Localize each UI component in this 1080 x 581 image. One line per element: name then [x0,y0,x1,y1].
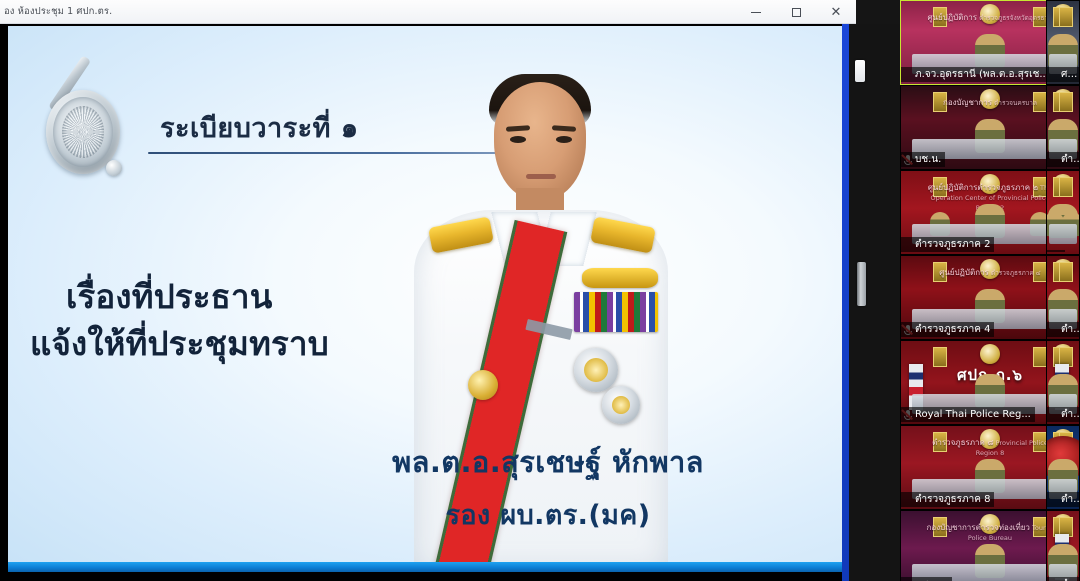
scene-banner-sub: ตำรวจภูธรจังหวัดอุดรธานี [977,14,1052,22]
participant-name-label: ภ.จว.อุดรธานี (พล.ต.อ.สุรเช... [901,67,1053,82]
participant-thumbnail-overflow-1[interactable]: ตำรวจ... [1046,85,1080,170]
scrollbar-marker [855,60,865,82]
participant-name-label: ตำรวจภูธรภาค 2 [901,237,994,252]
thumbnail-scroll-gutter[interactable] [849,24,900,581]
participant-name-label: ตำ... [1047,407,1079,422]
thumbnail-video [1047,511,1079,581]
officer-order-star-1-icon [574,348,618,392]
scrollbar-track[interactable] [849,24,900,581]
participant-thumbnail-overflow-0[interactable]: ศปก.ต... [1046,0,1080,85]
scene-banner: ศูนย์ปฏิบัติการ ตำรวจภูธรจังหวัดอุดรธานี [926,13,1054,23]
participant-thumbnail-overflow-3[interactable]: ตำรวจ... [1046,255,1080,340]
maximize-button[interactable] [776,0,816,24]
participant-name-label: ตำรวจ... [1047,492,1079,507]
participant-name-label [1047,250,1065,252]
thumbnail-video [1047,171,1079,254]
scene-banner: กองบัญชาการตำรวจท่องเที่ยว Tourist Polic… [926,523,1054,543]
officer-head [494,82,586,200]
participant-name-label: Royal Thai Police Reg... [901,407,1035,422]
participant-name-label: ตำรวจ... [1047,322,1079,337]
participant-name-label: บช.ทท. [901,577,952,581]
agenda-title: ระเบียบวาระที่ ๑ [160,106,359,149]
app-root: อง ห้องประชุม 1 ศปก.ตร. ✕ ระเบียบวาระที่… [0,0,1080,581]
officer-eye-right [556,136,572,143]
scene-banner-sub: ตำรวจภูธรภาค ๔ [989,269,1041,277]
shared-screen-stage[interactable]: ระเบียบวาระที่ ๑ เรื่องที่ประธาน แจ้งให้… [0,24,856,581]
participant-name-label: ตำรวจ... [1047,152,1079,167]
maximize-icon [792,8,801,17]
slide-signature-block: พล.ต.อ.สุรเชษฐ์ หักพาล รอง ผบ.ตร.(มค) [308,439,788,536]
royal-portrait-right [1059,7,1073,27]
signature-rank: รอง ผบ.ตร.(มค) [308,493,788,536]
signature-name: พล.ต.อ.สุรเชษฐ์ หักพาล [308,439,788,485]
officer-order-star-2-icon [602,386,640,424]
royal-portrait-right [1059,262,1073,282]
participant-name-label: ตำรวจ... [1047,577,1079,581]
participant-name-label: ศปก.ต... [1047,67,1079,82]
participant-thumbnail-overflow-4[interactable]: ตำ... [1046,340,1080,425]
window-controls: ✕ [736,0,856,24]
scene-banner-sub: Tourist Police Bureau [968,524,1053,542]
scrollbar-thumb[interactable] [857,262,866,306]
scene-banner: ศูนย์ปฏิบัติการ ตำรวจภูธรภาค ๔ [926,268,1054,278]
royal-portrait-right [1059,92,1073,112]
participant-name-label: ตำรวจภูธรภาค 4 [901,322,994,337]
scene-banner: ตำรวจภูธรภาค ๘ Provincial Police Region … [926,438,1054,458]
participant-thumbnail-overflow-5[interactable]: ตำรวจ... [1046,425,1080,510]
participant-thumbnail-overflow-6[interactable]: ตำรวจ... [1046,510,1080,581]
seal-knob-icon [106,160,122,176]
participant-thumbnail-strip-overflow[interactable]: ศปก.ต...ตำรวจ...ตำรวจ...ตำ...ตำรวจ...ตำร… [1046,0,1080,581]
window-title: อง ห้องประชุม 1 ศปก.ตร. [0,4,112,19]
officer-wings-badge-icon [582,268,658,288]
officer-eye-left [510,136,526,143]
stage-divider [842,24,849,581]
royal-portrait-right [1059,177,1073,197]
minimize-icon [751,12,761,13]
headline-line-2: แจ้งให้ที่ประชุมทราบ [30,321,426,368]
officer-mouth [526,174,556,179]
slide-headline: เรื่องที่ประธาน แจ้งให้ที่ประชุมทราบ [66,274,426,368]
participant-name-label: ตำรวจภูธรภาค 8 [901,492,994,507]
close-icon: ✕ [831,6,842,19]
royal-seal-emblem [26,56,146,186]
window-titlebar[interactable]: อง ห้องประชุม 1 ศปก.ตร. ✕ [0,0,856,24]
scene-banner-sub: ตำรวจนครบาล [992,99,1037,107]
participant-thumbnail-overflow-2[interactable] [1046,170,1080,255]
conference-desk [1049,224,1077,244]
close-button[interactable]: ✕ [816,0,856,24]
scene-banner: กองบัญชาการ ตำรวจนครบาล [926,98,1054,108]
officer-breast-badge-icon [468,370,498,400]
headline-line-1: เรื่องที่ประธาน [66,277,273,316]
minimize-button[interactable] [736,0,776,24]
agency-seal-icon [980,344,1000,364]
scene-banner-sub: Provincial Police Region 8 [976,439,1048,457]
participant-name-label: บช.น. [901,152,945,167]
officer-medal-ribbon-bar [574,292,658,332]
presentation-slide: ระเบียบวาระที่ ๑ เรื่องที่ประธาน แจ้งให้… [8,26,848,572]
